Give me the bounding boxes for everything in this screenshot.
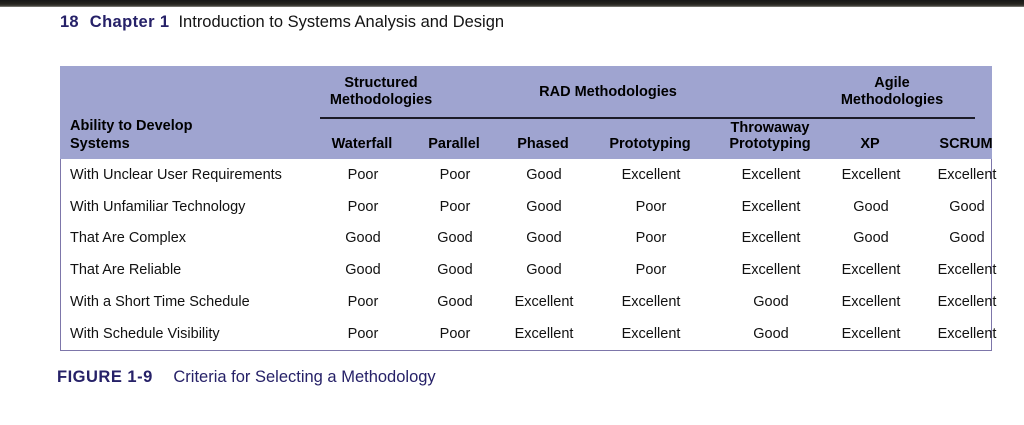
column-header-throwaway-prototyping-line1: Throwaway [696,120,844,136]
figure-caption-label: FIGURE 1-9 [57,368,153,386]
table-body: With Unclear User Requirements Poor Poor… [60,159,992,351]
table-cell: Good [405,230,505,246]
column-group-structured-line2: Methodologies [306,92,456,109]
column-group-structured-line1: Structured [306,75,456,92]
chapter-label: Chapter 1 [90,13,170,32]
column-header-scrum: SCRUM [900,136,1024,152]
page-number: 18 [60,13,79,32]
column-header-row: Waterfall Parallel Phased Prototyping Th… [60,121,992,159]
table-cell: Poor [405,199,505,215]
column-header-waterfall: Waterfall [312,136,412,152]
column-group-agile: Agile Methodologies [808,75,976,109]
table-cell: Poor [405,167,505,183]
row-label: With Schedule Visibility [70,326,220,342]
table-row: With Unfamiliar Technology Poor Poor Goo… [61,191,991,223]
table-row: With a Short Time Schedule Poor Good Exc… [61,286,991,318]
table-cell: Excellent [901,326,1024,342]
row-label: With Unfamiliar Technology [70,199,245,215]
chapter-title: Introduction to Systems Analysis and Des… [178,13,504,32]
table-cell: Good [405,294,505,310]
column-header-parallel-line1: Parallel [404,136,504,152]
figure-caption-text: Criteria for Selecting a Methodology [173,368,435,386]
table-cell: Poor [405,326,505,342]
table-cell: Excellent [901,167,1024,183]
table-cell: Good [901,230,1024,246]
figure-1-9: Structured Methodologies RAD Methodologi… [60,66,992,351]
column-group-rad: RAD Methodologies [500,84,716,101]
row-label: With a Short Time Schedule [70,294,250,310]
column-group-rad-line1: RAD Methodologies [500,84,716,101]
row-label: That Are Reliable [70,262,181,278]
table-cell: Poor [313,167,413,183]
column-header-scrum-line1: SCRUM [900,136,1024,152]
column-header-waterfall-line1: Waterfall [312,136,412,152]
column-group-row: Structured Methodologies RAD Methodologi… [60,66,992,117]
column-header-parallel: Parallel [404,136,504,152]
table-cell: Excellent [901,294,1024,310]
column-group-structured: Structured Methodologies [306,75,456,109]
table-cell: Poor [313,326,413,342]
figure-caption: FIGURE 1-9 Criteria for Selecting a Meth… [57,368,436,387]
table-cell: Good [313,262,413,278]
column-group-rule [320,117,975,119]
row-label: With Unclear User Requirements [70,167,282,183]
table-row: With Unclear User Requirements Poor Poor… [61,159,991,191]
table-cell: Excellent [901,262,1024,278]
running-head: 18 Chapter 1 Introduction to Systems Ana… [60,9,1004,35]
table-row: That Are Reliable Good Good Good Poor Ex… [61,254,991,286]
table-row: That Are Complex Good Good Good Poor Exc… [61,223,991,255]
row-label: That Are Complex [70,230,186,246]
column-group-agile-line1: Agile [808,75,976,92]
table-cell: Good [313,230,413,246]
table-cell: Poor [313,199,413,215]
scan-edge-bar [0,0,1024,7]
table-cell: Good [901,199,1024,215]
table-header: Structured Methodologies RAD Methodologi… [60,66,992,159]
table-cell: Good [405,262,505,278]
table-row: With Schedule Visibility Poor Poor Excel… [61,318,991,350]
table-cell: Poor [313,294,413,310]
column-group-agile-line2: Methodologies [808,92,976,109]
